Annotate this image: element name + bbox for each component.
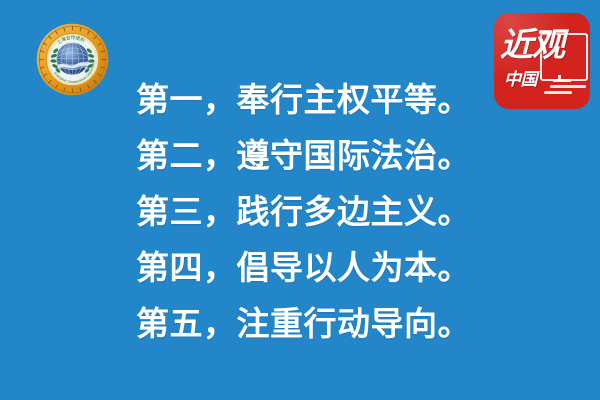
logo-title: 近观 bbox=[500, 28, 586, 62]
jinguan-zhongguo-logo[interactable]: 近观 中国 bbox=[494, 13, 590, 109]
monitor-base-icon bbox=[553, 79, 571, 82]
principles-list: 第一，奉行主权平等。 第二，遵守国际法治。 第三，践行多边主义。 第四，倡导以人… bbox=[136, 72, 466, 352]
sco-emblem-graphic: 上海合作组织 Shanghai Cooperation Organisation bbox=[36, 23, 109, 96]
principle-line: 第四，倡导以人为本。 bbox=[136, 240, 466, 296]
principle-line: 第一，奉行主权平等。 bbox=[136, 72, 466, 128]
logo-swoosh-icon bbox=[544, 85, 586, 99]
principle-line: 第三，践行多边主义。 bbox=[136, 184, 466, 240]
principle-line: 第五，注重行动导向。 bbox=[136, 296, 466, 352]
principle-line: 第二，遵守国际法治。 bbox=[136, 128, 466, 184]
logo-subtitle: 中国 bbox=[504, 65, 537, 90]
infographic-card: 上海合作组织 Shanghai Cooperation Organisation… bbox=[0, 0, 600, 400]
sco-emblem: 上海合作组织 Shanghai Cooperation Organisation bbox=[36, 23, 109, 96]
